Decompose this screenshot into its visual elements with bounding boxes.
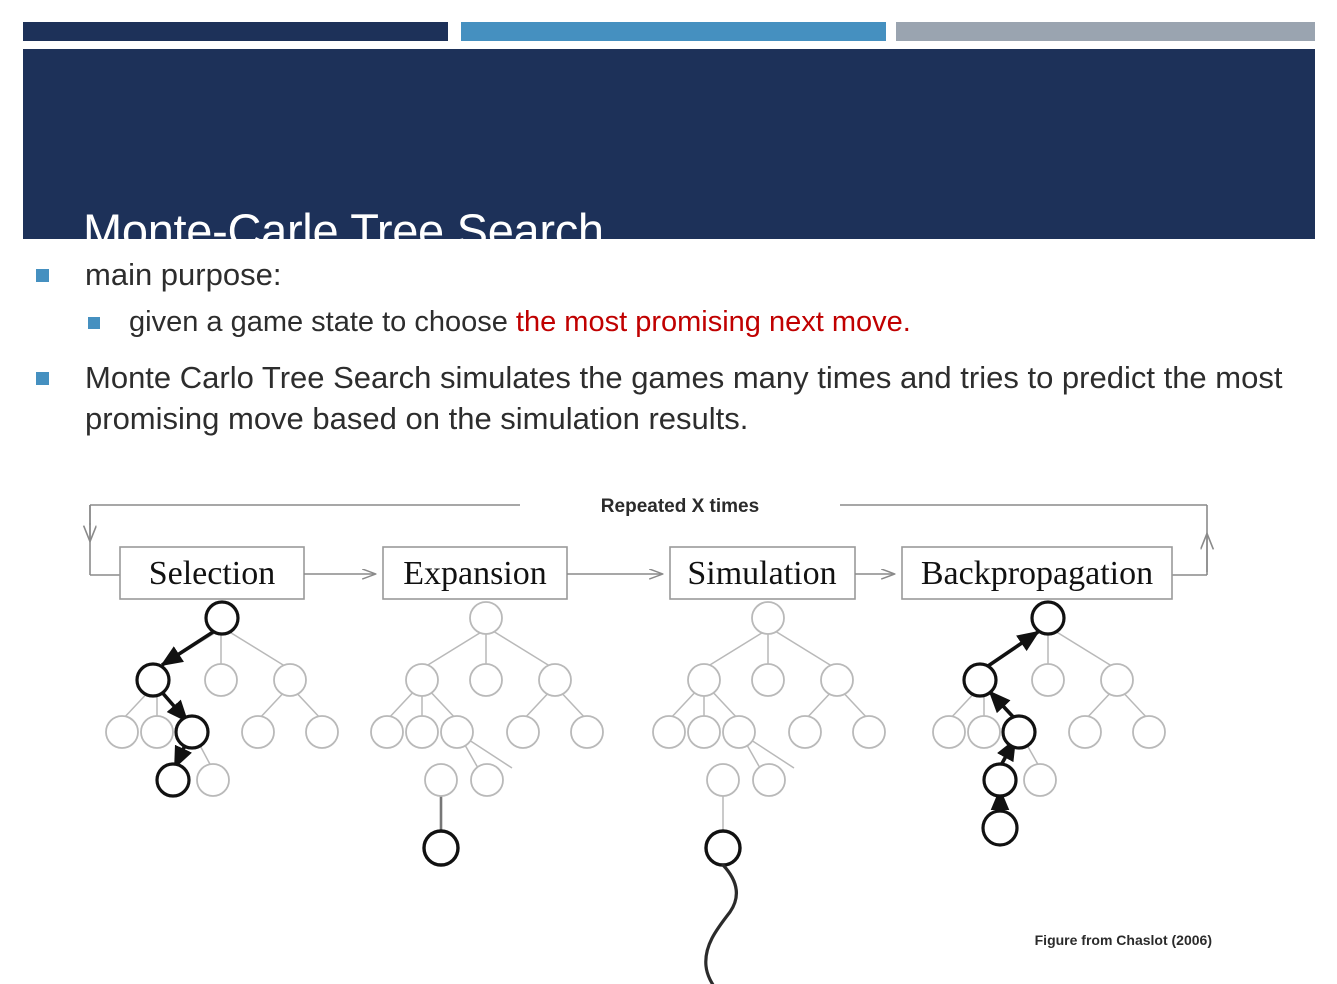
navy-bar [23,22,448,41]
top-decorative-bars [0,0,1337,46]
stage-label-backpropagation: Backpropagation [921,555,1153,592]
bullet-text-mcts-description: Monte Carlo Tree Search simulates the ga… [85,358,1335,440]
bullet-text-given-game-state: given a game state to choose the most pr… [129,304,911,342]
bullet-item-main-purpose: main purpose: [36,255,1337,296]
simulation-rollout-squiggle [705,865,736,984]
mcts-diagram-svg: Repeated X times Selection Expansion Sim… [0,480,1337,984]
bullet-item-given-game-state: given a game state to choose the most pr… [88,304,1337,342]
repeat-loop-label: Repeated X times [601,496,759,517]
bullet-square-icon [36,372,49,385]
stage-box-backpropagation[interactable]: Backpropagation [902,547,1172,599]
stage-label-selection: Selection [149,555,276,592]
stage-box-selection[interactable]: Selection [120,547,304,599]
bullet-text-highlight: the most promising next move. [516,306,911,338]
bullet-square-icon [88,317,100,329]
expansion-new-node [424,831,458,865]
tree-backpropagation [933,602,1165,845]
bullet-text-main-purpose: main purpose: [85,255,281,296]
tree-simulation [653,602,885,984]
stage-box-expansion[interactable]: Expansion [383,547,567,599]
stage-label-simulation: Simulation [687,555,836,592]
tree-expansion [371,602,603,865]
bullet-text-prefix: given a game state to choose [129,306,516,338]
stage-box-simulation[interactable]: Simulation [670,547,855,599]
bullet-item-mcts-description: Monte Carlo Tree Search simulates the ga… [36,358,1337,440]
blue-bar [461,22,886,41]
stage-label-expansion: Expansion [403,555,547,592]
gray-bar [896,22,1315,41]
slide-body: main purpose: given a game state to choo… [0,255,1337,447]
bullet-square-icon [36,269,49,282]
figure-caption: Figure from Chaslot (2006) [1035,932,1212,948]
mcts-figure: Repeated X times Selection Expansion Sim… [0,480,1337,984]
page-title: Monte-Carle Tree Search [83,207,604,254]
title-banner: Monte-Carle Tree Search [23,49,1315,239]
tree-selection [106,602,338,796]
